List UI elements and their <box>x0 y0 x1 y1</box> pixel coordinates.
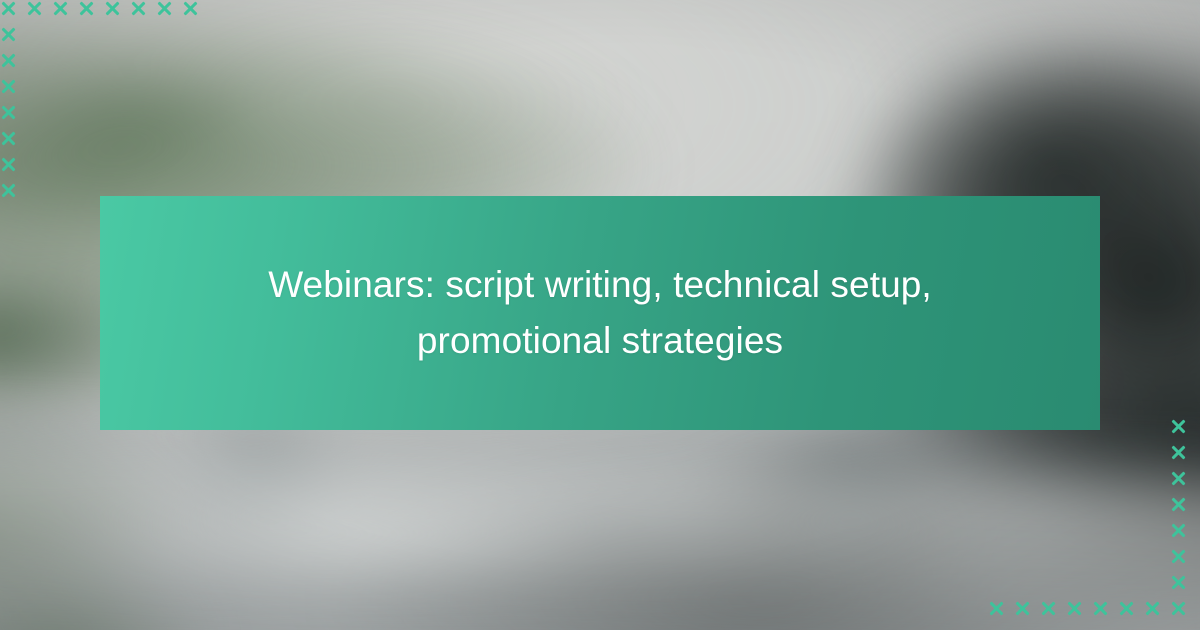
title-banner: Webinars: script writing, technical setu… <box>100 196 1100 430</box>
page-title-line-1: Webinars: script writing, technical setu… <box>170 257 1030 313</box>
screenshot-canvas: Webinars: script writing, technical setu… <box>0 0 1200 630</box>
page-title: Webinars: script writing, technical setu… <box>170 257 1030 369</box>
page-title-line-2: promotional strategies <box>170 313 1030 369</box>
